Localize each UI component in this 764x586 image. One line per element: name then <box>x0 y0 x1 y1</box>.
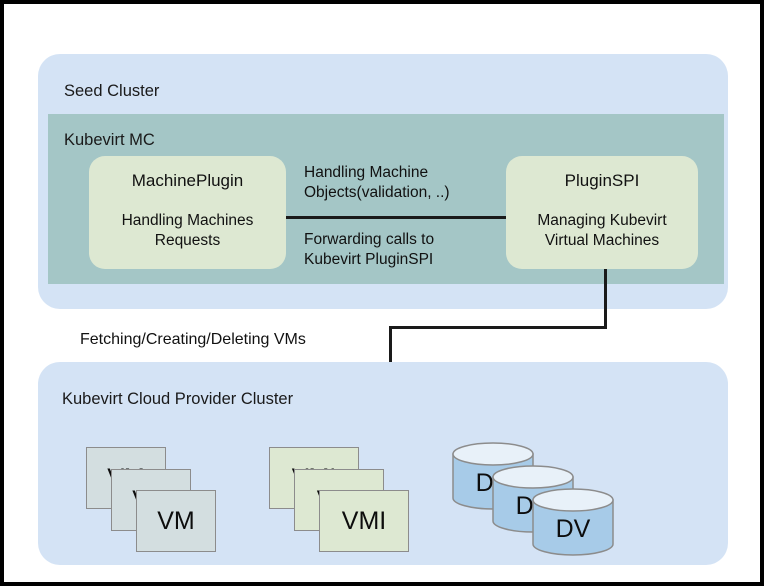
machine-plugin-subtitle: Handling Machines Requests <box>122 211 254 251</box>
dv-stack: DV DV DV <box>452 442 632 552</box>
seed-cluster-label: Seed Cluster <box>64 82 159 101</box>
vm-stack: VM VM VM <box>86 447 246 552</box>
dv-cylinder-label: DV <box>532 515 614 544</box>
connector-horizontal <box>389 326 607 329</box>
flow-label-fetching-creating-deleting: Fetching/Creating/Deleting VMs <box>80 331 306 349</box>
provider-cluster-label: Kubevirt Cloud Provider Cluster <box>62 390 293 409</box>
vmi-stack: VMI VMI VMI <box>269 447 439 552</box>
annotation-divider <box>286 216 506 219</box>
machine-plugin-title: MachinePlugin <box>132 170 244 191</box>
annotation-forwarding-calls: Forwarding calls to Kubevirt PluginSPI <box>304 230 504 271</box>
kubevirt-mc-label: Kubevirt MC <box>64 131 155 150</box>
annotation-handling-machine-objects: Handling Machine Objects(validation, ..) <box>304 163 504 204</box>
dv-cylinder-front[interactable]: DV <box>532 488 614 556</box>
connector-vertical-right <box>604 269 607 329</box>
plugin-spi-subtitle: Managing Kubevirt Virtual Machines <box>537 211 666 251</box>
vm-card-label: VM <box>157 507 195 536</box>
connector-vertical-left <box>389 326 392 362</box>
vm-card-front[interactable]: VM <box>136 490 216 552</box>
plugin-spi-box[interactable]: PluginSPI Managing Kubevirt Virtual Mach… <box>506 156 698 269</box>
machine-plugin-box[interactable]: MachinePlugin Handling Machines Requests <box>89 156 286 269</box>
vmi-card-front[interactable]: VMI <box>319 490 409 552</box>
vmi-card-label: VMI <box>342 507 386 536</box>
plugin-spi-title: PluginSPI <box>565 170 640 191</box>
diagram-canvas: Seed Cluster Kubevirt MC MachinePlugin H… <box>0 0 764 586</box>
